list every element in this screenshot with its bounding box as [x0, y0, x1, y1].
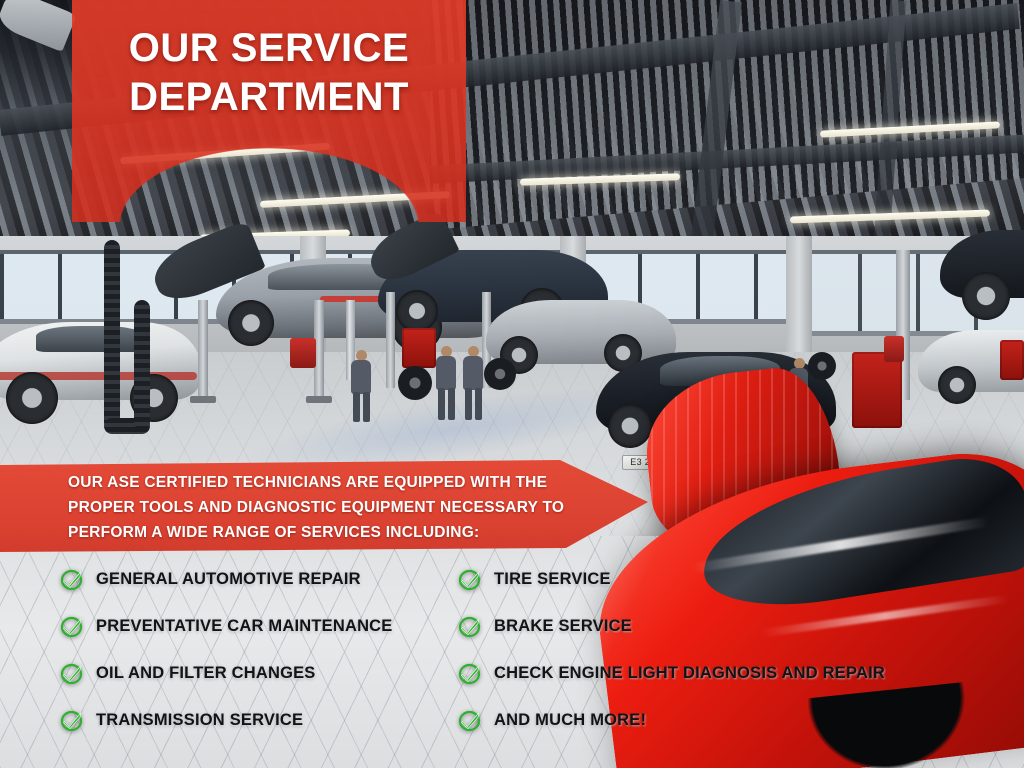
tire [484, 358, 516, 390]
hydraulic-lift-post [386, 292, 395, 388]
check-icon [60, 615, 84, 639]
lift-base [190, 396, 216, 403]
red-tool-cabinet [1000, 340, 1024, 380]
list-item-label: TRANSMISSION SERVICE [96, 711, 303, 730]
lift-base [306, 396, 332, 403]
check-icon [458, 662, 482, 686]
car-wheel [938, 366, 976, 404]
intro-text: OUR ASE CERTIFIED TECHNICIANS ARE EQUIPP… [68, 470, 608, 545]
check-icon [458, 568, 482, 592]
tire [808, 352, 836, 380]
service-department-poster: E3 28-UA [0, 0, 1024, 768]
check-icon [60, 568, 84, 592]
intro-line-3: PERFORM A WIDE RANGE OF SERVICES INCLUDI… [68, 520, 608, 545]
car-wheel [962, 272, 1010, 320]
list-item-label: BRAKE SERVICE [494, 617, 632, 636]
car-wheel [608, 404, 652, 448]
check-icon [60, 709, 84, 733]
tire [398, 366, 432, 400]
floor-jack [290, 338, 316, 368]
intro-line-1: OUR ASE CERTIFIED TECHNICIANS ARE EQUIPP… [68, 470, 608, 495]
check-icon [458, 709, 482, 733]
check-icon [60, 662, 84, 686]
list-item[interactable]: PREVENTATIVE CAR MAINTENANCE [60, 603, 460, 650]
list-item-label: PREVENTATIVE CAR MAINTENANCE [96, 617, 393, 636]
list-item[interactable]: GENERAL AUTOMOTIVE REPAIR [60, 556, 460, 603]
list-item[interactable]: TIRE SERVICE [458, 556, 1018, 603]
page-title-line1: OUR SERVICE [90, 24, 448, 73]
red-tool-cabinet [852, 352, 902, 428]
list-item[interactable]: BRAKE SERVICE [458, 603, 1018, 650]
services-column-left: GENERAL AUTOMOTIVE REPAIR PREVENTATIVE C… [60, 556, 460, 744]
exhaust-extraction-hose [134, 300, 150, 430]
list-item-label: TIRE SERVICE [494, 570, 611, 589]
page-title: OUR SERVICE DEPARTMENT [72, 10, 466, 122]
list-item[interactable]: OIL AND FILTER CHANGES [60, 650, 460, 697]
check-icon [458, 615, 482, 639]
floor-jack [884, 336, 904, 362]
car-wheel [6, 372, 58, 424]
list-item[interactable]: CHECK ENGINE LIGHT DIAGNOSIS AND REPAIR [458, 650, 1018, 697]
list-item-label: CHECK ENGINE LIGHT DIAGNOSIS AND REPAIR [494, 664, 885, 683]
list-item[interactable]: AND MUCH MORE! [458, 697, 1018, 744]
intro-band: OUR ASE CERTIFIED TECHNICIANS ARE EQUIPP… [0, 460, 680, 560]
car-window [36, 326, 146, 352]
intro-line-2: PROPER TOOLS AND DIAGNOSTIC EQUIPMENT NE… [68, 495, 608, 520]
exhaust-extraction-hose [104, 240, 120, 430]
hydraulic-lift-post [198, 300, 208, 400]
red-tool-cabinet [402, 328, 436, 368]
car-wheel [228, 300, 274, 346]
list-item[interactable]: TRANSMISSION SERVICE [60, 697, 460, 744]
list-item-label: AND MUCH MORE! [494, 711, 646, 730]
services-list: GENERAL AUTOMOTIVE REPAIR PREVENTATIVE C… [0, 556, 1024, 746]
page-title-line2: DEPARTMENT [90, 73, 448, 122]
list-item-label: OIL AND FILTER CHANGES [96, 664, 316, 683]
services-column-right: TIRE SERVICE BRAKE SERVICE CHECK ENGINE … [458, 556, 1018, 744]
list-item-label: GENERAL AUTOMOTIVE REPAIR [96, 570, 361, 589]
car-wheel [396, 290, 438, 332]
